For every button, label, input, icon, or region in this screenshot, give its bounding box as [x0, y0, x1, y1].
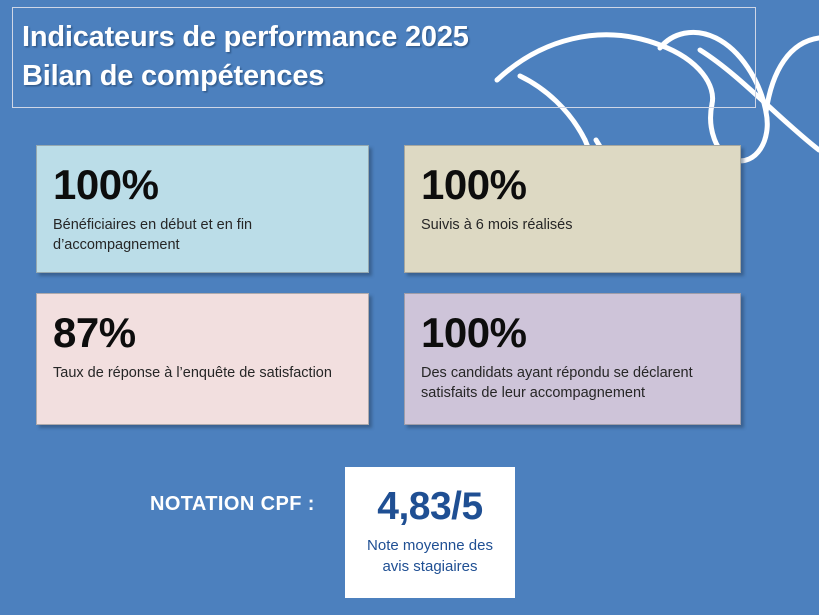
kpi-value: 100% [421, 310, 724, 356]
cpf-caption: Note moyenne des avis stagiaires [354, 535, 506, 577]
title-line-2: Bilan de compétences [22, 57, 562, 96]
kpi-card-satisfaction: 100% Des candidats ayant répondu se décl… [404, 293, 741, 425]
kpi-card-suivis-6-mois: 100% Suivis à 6 mois réalisés [404, 145, 741, 273]
cpf-score: 4,83/5 [377, 484, 482, 529]
kpi-value: 100% [421, 162, 724, 208]
page-title: Indicateurs de performance 2025 Bilan de… [22, 18, 562, 96]
infographic-slide: Indicateurs de performance 2025 Bilan de… [0, 0, 819, 615]
kpi-card-taux-reponse: 87% Taux de réponse à l’enquête de satis… [36, 293, 369, 425]
kpi-label: Taux de réponse à l’enquête de satisfact… [53, 363, 352, 383]
kpi-label: Des candidats ayant répondu se déclarent… [421, 363, 724, 403]
cpf-rating-label: NOTATION CPF : [150, 491, 315, 517]
kpi-label: Suivis à 6 mois réalisés [421, 215, 724, 235]
kpi-card-beneficiaires: 100% Bénéficiaires en début et en fin d’… [36, 145, 369, 273]
kpi-value: 87% [53, 310, 352, 356]
title-line-1: Indicateurs de performance 2025 [22, 18, 562, 57]
cpf-rating-box: 4,83/5 Note moyenne des avis stagiaires [345, 467, 515, 598]
kpi-label: Bénéficiaires en début et en fin d’accom… [53, 215, 352, 255]
kpi-value: 100% [53, 162, 352, 208]
